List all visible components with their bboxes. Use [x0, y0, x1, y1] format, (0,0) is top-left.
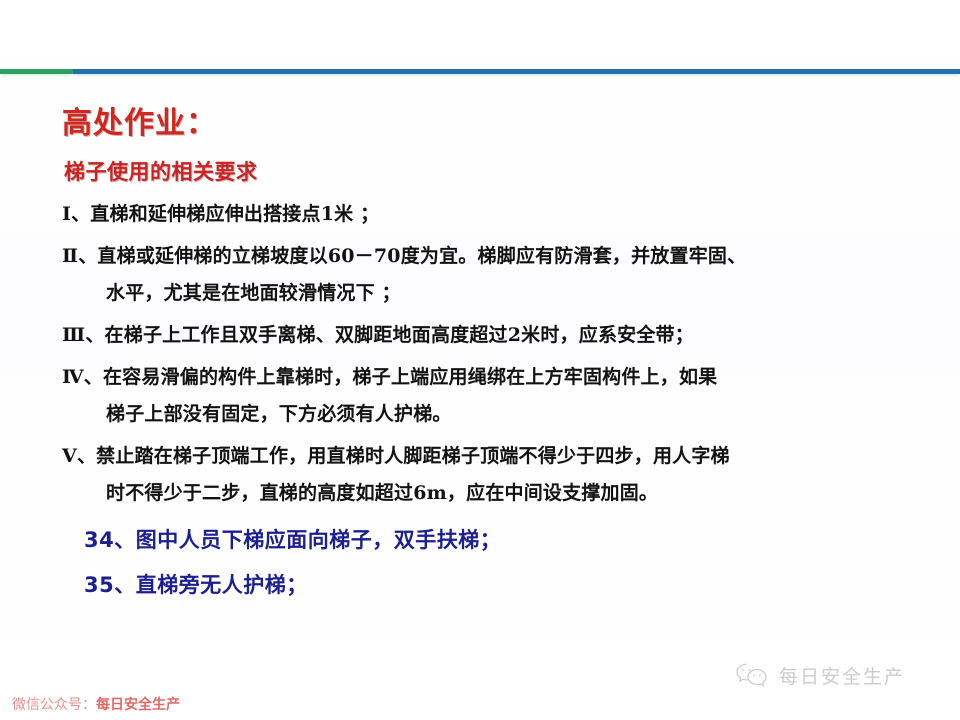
list-item: Ⅴ、禁止踏在梯子顶端工作，用直梯时人脚距梯子顶端不得少于四步，用人字梯 时不得少…	[62, 438, 942, 512]
requirement-line: Ⅰ、直梯和延伸梯应伸出搭接点1米 ；	[62, 203, 379, 225]
footer-account-name: 每日安全生产	[96, 697, 180, 713]
list-item: Ⅱ、直梯或延伸梯的立梯坡度以60－70度为宜。梯脚应有防滑套，并放置牢固、 水平…	[62, 238, 942, 312]
requirement-line-continued: 时不得少于二步，直梯的高度如超过6m，应在中间设支撑加固。	[62, 475, 942, 512]
list-item: Ⅲ、在梯子上工作且双手离梯、双脚距地面高度超过2米时，应系安全带；	[62, 317, 942, 354]
page-title: 高处作业：	[62, 98, 217, 142]
watermark: 每日安全生产	[735, 661, 905, 689]
header-divider	[0, 69, 960, 74]
divider-green-segment	[0, 69, 73, 74]
numbered-points-list: 34、图中人员下梯应面向梯子，双手扶梯； 35、直梯旁无人护梯；	[84, 518, 944, 608]
requirement-line-continued: 水平，尤其是在地面较滑情况下 ；	[62, 275, 942, 312]
list-item: Ⅰ、直梯和延伸梯应伸出搭接点1米 ；	[62, 196, 942, 233]
requirement-line: Ⅴ、禁止踏在梯子顶端工作，用直梯时人脚距梯子顶端不得少于四步，用人字梯	[62, 445, 730, 467]
list-item: 35、直梯旁无人护梯；	[84, 563, 944, 608]
footer-label: 微信公众号：	[12, 697, 96, 713]
list-item: 34、图中人员下梯应面向梯子，双手扶梯；	[84, 518, 944, 563]
slide-canvas: 高处作业： 梯子使用的相关要求 Ⅰ、直梯和延伸梯应伸出搭接点1米 ； Ⅱ、直梯或…	[0, 0, 960, 720]
footer-account-tag: 微信公众号：每日安全生产	[12, 694, 180, 714]
requirement-line: Ⅱ、直梯或延伸梯的立梯坡度以60－70度为宜。梯脚应有防滑套，并放置牢固、	[62, 245, 746, 267]
requirement-line: Ⅳ、在容易滑偏的构件上靠梯时，梯子上端应用绳绑在上方牢固构件上，如果	[62, 366, 717, 388]
wechat-icon	[735, 661, 769, 689]
list-item: Ⅳ、在容易滑偏的构件上靠梯时，梯子上端应用绳绑在上方牢固构件上，如果 梯子上部没…	[62, 359, 942, 433]
divider-blue-segment	[73, 69, 960, 74]
page-subtitle: 梯子使用的相关要求	[64, 156, 258, 186]
requirement-line-continued: 梯子上部没有固定，下方必须有人护梯。	[62, 396, 942, 433]
requirement-line: Ⅲ、在梯子上工作且双手离梯、双脚距地面高度超过2米时，应系安全带；	[62, 324, 694, 346]
watermark-text: 每日安全生产	[779, 662, 905, 689]
requirements-list: Ⅰ、直梯和延伸梯应伸出搭接点1米 ； Ⅱ、直梯或延伸梯的立梯坡度以60－70度为…	[62, 196, 942, 517]
